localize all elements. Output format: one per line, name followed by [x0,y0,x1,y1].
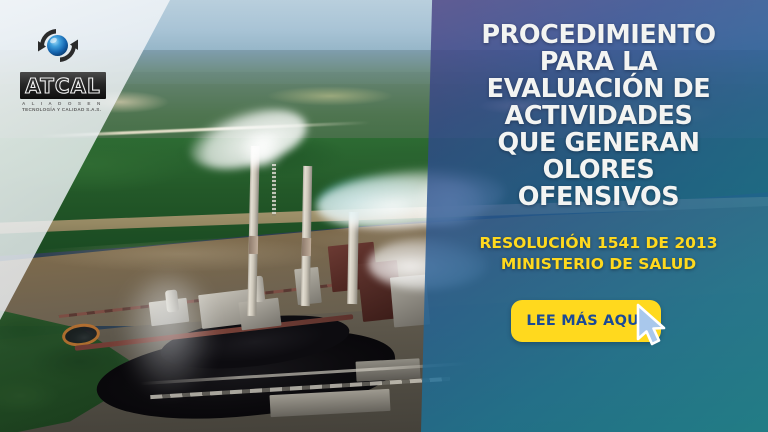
lattice-tower [272,164,276,216]
subtitle-line: MINISTERIO DE SALUD [480,254,718,275]
smoke-plume [236,134,288,168]
ground-steam [120,276,216,396]
cta-container: LEE MÁS AQUÍ [511,300,687,342]
logo-tagline-line2: TECNOLOGÍA Y CALIDAD S.A.S. [22,107,124,112]
read-more-button[interactable]: LEE MÁS AQUÍ [511,300,661,342]
smokestack-band [249,236,258,254]
headline-line: PARA LA [449,49,749,76]
logo-tagline-line1: A L I A D O S E N [22,101,124,106]
atcal-logo[interactable]: ATCAL A L I A D O S E N TECNOLOGÍA Y CAL… [14,22,124,112]
page-title: PROCEDIMIENTO PARA LA EVALUACIÓN DE ACTI… [449,22,749,211]
logo-wordmark-text: ATCAL [25,76,100,96]
headline-line: EVALUACIÓN DE [449,76,749,103]
content-panel: PROCEDIMIENTO PARA LA EVALUACIÓN DE ACTI… [421,0,768,432]
headline-line: OLORES [449,157,749,184]
headline-line: QUE GENERAN [449,130,749,157]
smokestack-band [302,238,311,256]
headline-line: OFENSIVOS [449,184,749,211]
logo-wordmark: ATCAL [20,72,106,99]
subtitle-line: RESOLUCIÓN 1541 DE 2013 [480,233,718,254]
page-subtitle: RESOLUCIÓN 1541 DE 2013 MINISTERIO DE SA… [480,233,718,276]
plant-building [238,298,281,331]
sphere-with-circular-arrows-icon [30,22,86,68]
headline-line: PROCEDIMIENTO [449,22,749,49]
promo-banner: ATCAL A L I A D O S E N TECNOLOGÍA Y CAL… [0,0,768,432]
read-more-button-label: LEE MÁS AQUÍ [526,313,644,329]
headline-line: ACTIVIDADES [449,103,749,130]
